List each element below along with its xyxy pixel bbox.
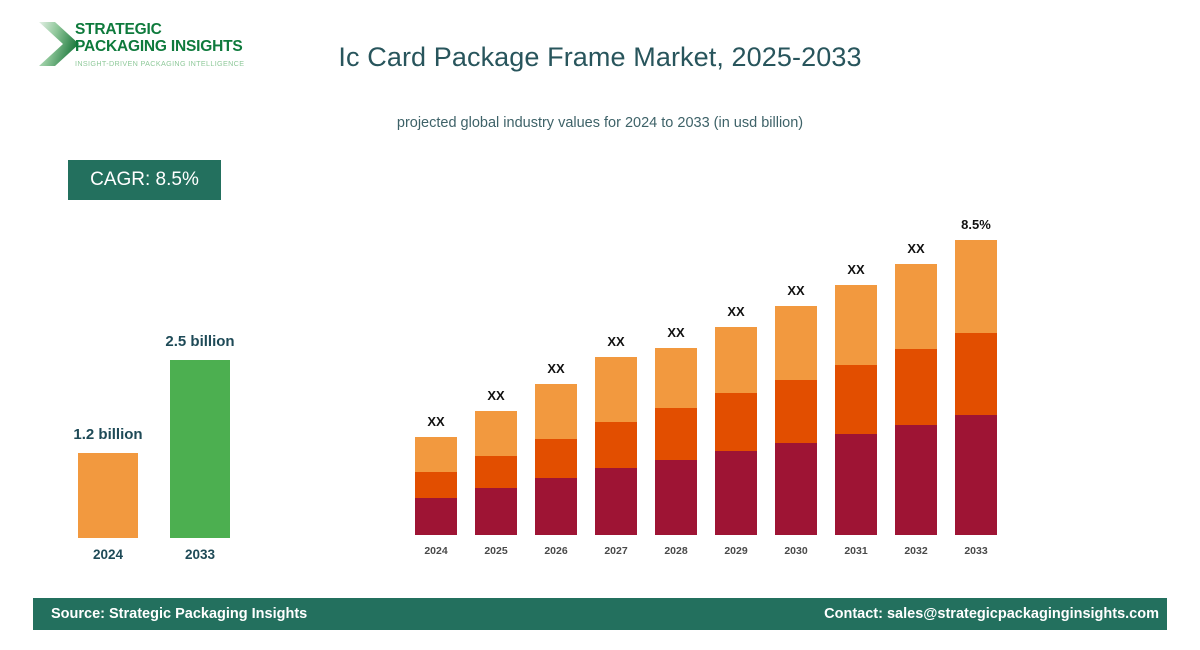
stacked-bar-year-label: 2024 <box>406 545 466 557</box>
stacked-bar-value-label: XX <box>646 325 706 340</box>
summary-bar-year-label: 2033 <box>170 547 230 562</box>
stacked-bar-year-label: 2027 <box>586 545 646 557</box>
stacked-bar-segment[interactable] <box>775 380 817 443</box>
stacked-bar-segment[interactable] <box>895 425 937 535</box>
stacked-bar-segment[interactable] <box>955 333 997 415</box>
stacked-bar-segment[interactable] <box>835 365 877 434</box>
stacked-bar-value-label: XX <box>526 361 586 376</box>
stacked-bar-year-label: 2025 <box>466 545 526 557</box>
stacked-bar[interactable] <box>415 437 457 535</box>
stacked-bar-value-label: XX <box>586 334 646 349</box>
stacked-bar-year-label: 2033 <box>946 545 1006 557</box>
summary-bar-value-label: 1.2 billion <box>28 426 188 443</box>
stacked-bar-segment[interactable] <box>595 357 637 422</box>
stacked-bar-group: XX <box>895 200 937 535</box>
stacked-bar[interactable] <box>715 327 757 535</box>
stacked-bar-group: XX <box>535 200 577 535</box>
stacked-bar-segment[interactable] <box>715 393 757 451</box>
stacked-bar-group: XX <box>835 200 877 535</box>
page-title: Ic Card Package Frame Market, 2025-2033 <box>0 42 1200 73</box>
stacked-bar-year-label: 2029 <box>706 545 766 557</box>
summary-bar-group: 2.5 billion <box>170 320 230 538</box>
stacked-bar-segment[interactable] <box>415 437 457 472</box>
summary-bar-group: 1.2 billion <box>78 413 138 538</box>
stacked-bar[interactable] <box>655 348 697 535</box>
stacked-bar-value-label: XX <box>766 283 826 298</box>
stacked-bar-segment[interactable] <box>415 472 457 498</box>
stacked-bar-group: XX <box>715 200 757 535</box>
stacked-bar-group: 8.5% <box>955 200 997 535</box>
stacked-bar[interactable] <box>535 384 577 535</box>
cagr-badge: CAGR: 8.5% <box>68 160 221 200</box>
stacked-bar-chart: XX2024XX2025XX2026XX2027XX2028XX2029XX20… <box>400 200 1020 560</box>
footer-source-label: Source: Strategic Packaging Insights <box>51 598 307 630</box>
stacked-bar-group: XX <box>775 200 817 535</box>
stacked-bar[interactable] <box>775 306 817 535</box>
summary-bar[interactable] <box>170 360 230 538</box>
summary-bar-year-label: 2024 <box>78 547 138 562</box>
stacked-bar-group: XX <box>475 200 517 535</box>
page-subtitle: projected global industry values for 202… <box>0 115 1200 131</box>
stacked-bar-year-label: 2028 <box>646 545 706 557</box>
stacked-bar-segment[interactable] <box>775 306 817 380</box>
stacked-bar-group: XX <box>655 200 697 535</box>
stacked-bar-value-label: XX <box>466 388 526 403</box>
stacked-bar-value-label: XX <box>406 414 466 429</box>
stacked-bar-segment[interactable] <box>535 478 577 535</box>
stacked-bar-segment[interactable] <box>535 439 577 478</box>
stacked-bar-value-label: 8.5% <box>946 217 1006 232</box>
stacked-bar-segment[interactable] <box>895 264 937 349</box>
stacked-bar-segment[interactable] <box>535 384 577 439</box>
stacked-bar-segment[interactable] <box>955 240 997 333</box>
stacked-bar-year-label: 2026 <box>526 545 586 557</box>
cagr-badge-label: CAGR: 8.5% <box>90 169 199 191</box>
stacked-bar-group: XX <box>595 200 637 535</box>
stacked-bar-segment[interactable] <box>775 443 817 535</box>
stacked-bar-segment[interactable] <box>715 327 757 393</box>
stacked-bar-segment[interactable] <box>475 411 517 456</box>
footer-contact-label: Contact: sales@strategicpackaginginsight… <box>824 598 1159 630</box>
stacked-bar-segment[interactable] <box>835 285 877 365</box>
summary-bar-value-label: 2.5 billion <box>120 333 280 350</box>
stacked-bar-segment[interactable] <box>415 498 457 535</box>
stacked-bar-segment[interactable] <box>475 488 517 535</box>
stacked-bar-segment[interactable] <box>895 349 937 425</box>
stacked-bar-group: XX <box>415 200 457 535</box>
brand-name-line1: STRATEGIC <box>75 21 265 38</box>
stacked-bar-segment[interactable] <box>655 408 697 460</box>
stacked-bar-segment[interactable] <box>595 468 637 535</box>
footer-bar: Source: Strategic Packaging Insights Con… <box>33 598 1167 630</box>
stacked-bar[interactable] <box>955 240 997 535</box>
stacked-bar[interactable] <box>895 264 937 535</box>
summary-bar[interactable] <box>78 453 138 538</box>
stacked-bar-segment[interactable] <box>595 422 637 468</box>
stacked-bar[interactable] <box>475 411 517 535</box>
stacked-bar-segment[interactable] <box>715 451 757 535</box>
stacked-bar[interactable] <box>835 285 877 535</box>
stacked-bar-year-label: 2031 <box>826 545 886 557</box>
stacked-bar-year-label: 2030 <box>766 545 826 557</box>
stacked-bar-segment[interactable] <box>655 460 697 535</box>
stacked-bar-year-label: 2032 <box>886 545 946 557</box>
stacked-bar-value-label: XX <box>886 241 946 256</box>
stacked-bar-segment[interactable] <box>475 456 517 488</box>
stacked-bar-value-label: XX <box>826 262 886 277</box>
summary-bar-chart: 1.2 billion20242.5 billion2033 <box>40 300 290 570</box>
stacked-bar[interactable] <box>595 357 637 535</box>
stacked-bar-value-label: XX <box>706 304 766 319</box>
stacked-bar-segment[interactable] <box>655 348 697 408</box>
stacked-bar-segment[interactable] <box>955 415 997 535</box>
stacked-bar-segment[interactable] <box>835 434 877 535</box>
